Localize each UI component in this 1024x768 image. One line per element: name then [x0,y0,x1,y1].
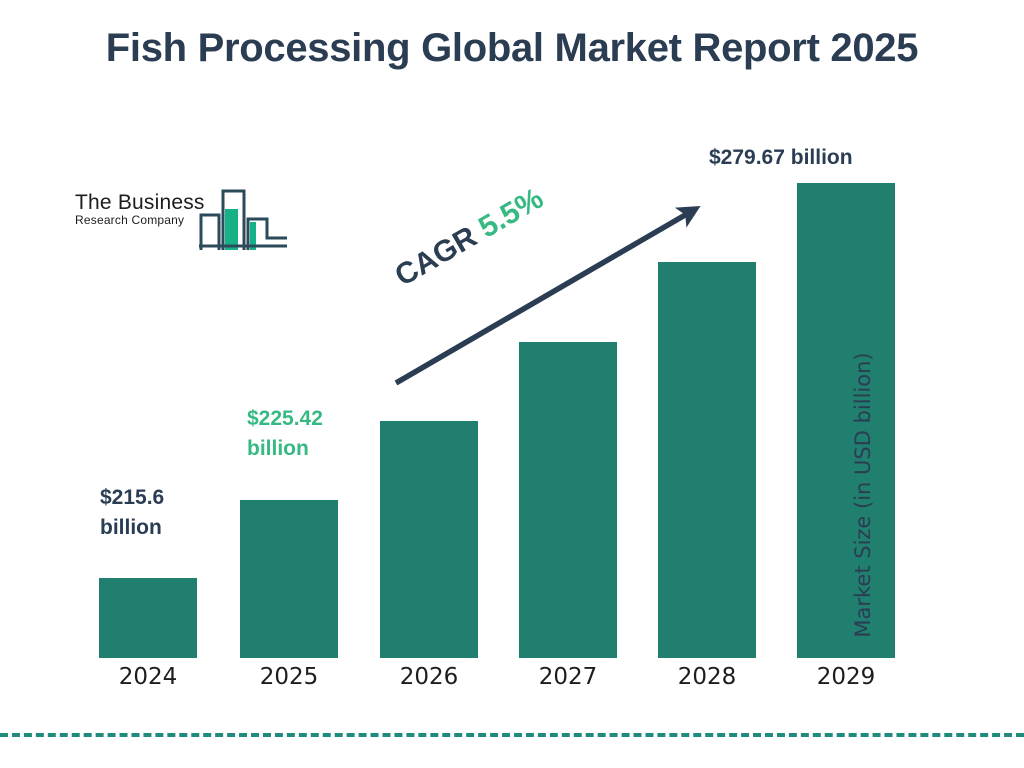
cagr-word: CAGR [390,220,483,293]
x-tick-2028: 2028 [637,664,777,690]
x-tick-2024: 2024 [78,664,218,690]
x-tick-2025: 2025 [219,664,359,690]
value-label-2025: $225.42 billion [247,404,387,464]
cagr-annotation: CAGR 5.5% [390,182,550,294]
bar-2024[interactable] [99,578,197,658]
x-tick-2029: 2029 [776,664,916,690]
x-tick-2027: 2027 [498,664,638,690]
bar-2029[interactable] [797,183,895,658]
chart-page: Fish Processing Global Market Report 202… [0,0,1024,768]
bar-2027[interactable] [519,342,617,658]
cagr-value: 5.5% [473,182,549,245]
value-label-2024: $215.6 billion [100,483,230,543]
x-tick-2026: 2026 [359,664,499,690]
bar-2028[interactable] [658,262,756,658]
bar-2026[interactable] [380,421,478,658]
bar-chart-plot: $215.6 billion $225.42 billion $279.67 b… [0,0,1024,768]
bar-2025[interactable] [240,500,338,658]
y-axis-label: Market Size (in USD billion) [851,330,875,660]
footer-divider [0,733,1024,737]
value-label-2029: $279.67 billion [709,143,969,173]
